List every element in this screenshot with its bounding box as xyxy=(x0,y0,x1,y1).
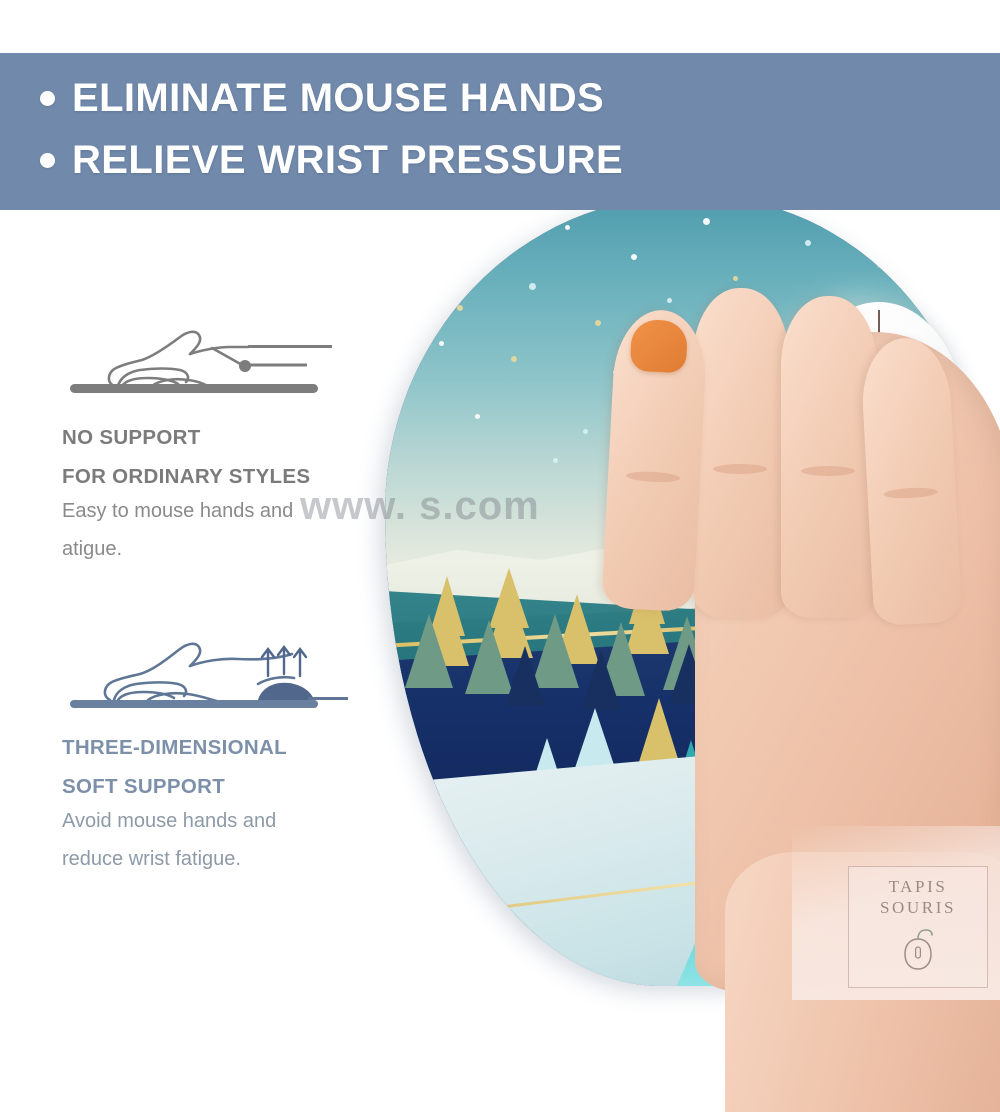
brand-logo: TAPIS SOURIS xyxy=(848,866,988,988)
hand-little-finger xyxy=(860,336,963,626)
hand-ring-finger xyxy=(781,296,877,618)
hand-flat-on-desk-icon xyxy=(62,318,362,413)
mouse-outline-icon xyxy=(901,927,935,973)
support-arrows-icon xyxy=(262,647,306,676)
feature-body-line2: atigue. xyxy=(62,532,392,566)
hand-on-wrist-rest-icon xyxy=(62,628,362,723)
brand-name-line1: TAPIS xyxy=(889,877,948,898)
feature-heading-line1: THREE-DIMENSIONAL xyxy=(62,733,392,762)
wrist-rest-cushion xyxy=(258,683,314,700)
feature-heading-line1: NO SUPPORT xyxy=(62,423,392,452)
desk-surface-bar xyxy=(70,700,318,708)
bullet-dot-icon xyxy=(40,91,55,106)
header-banner: ELIMINATE MOUSE HANDS RELIEVE WRIST PRES… xyxy=(0,53,1000,210)
hand-index-finger xyxy=(601,308,709,612)
feature-heading-line2: FOR ORDINARY STYLES xyxy=(62,462,392,491)
product-marketing-image: ELIMINATE MOUSE HANDS RELIEVE WRIST PRES… xyxy=(0,0,1000,1000)
benefit-bullet-list: ELIMINATE MOUSE HANDS RELIEVE WRIST PRES… xyxy=(40,67,623,191)
feature-body-line2: reduce wrist fatigue. xyxy=(62,842,392,876)
feature-body-line1: Avoid mouse hands and xyxy=(62,804,392,838)
benefit-text-2: RELIEVE WRIST PRESSURE xyxy=(72,138,623,183)
desk-surface-bar xyxy=(70,384,318,393)
feature-body-line1: Easy to mouse hands and xyxy=(62,494,392,528)
benefit-text-1: ELIMINATE MOUSE HANDS xyxy=(72,76,604,121)
brand-name-line2: SOURIS xyxy=(880,898,956,919)
feature-heading-line2: SOFT SUPPORT xyxy=(62,772,392,801)
feature-block-soft-support: THREE-DIMENSIONAL SOFT SUPPORT Avoid mou… xyxy=(62,628,392,876)
benefit-bullet-item: RELIEVE WRIST PRESSURE xyxy=(40,129,623,191)
bullet-dot-icon xyxy=(40,153,55,168)
hand-middle-finger xyxy=(693,288,789,618)
feature-block-no-support: NO SUPPORT FOR ORDINARY STYLES Easy to m… xyxy=(62,318,392,566)
orange-painted-nail xyxy=(630,319,689,374)
benefit-bullet-item: ELIMINATE MOUSE HANDS xyxy=(40,67,623,129)
